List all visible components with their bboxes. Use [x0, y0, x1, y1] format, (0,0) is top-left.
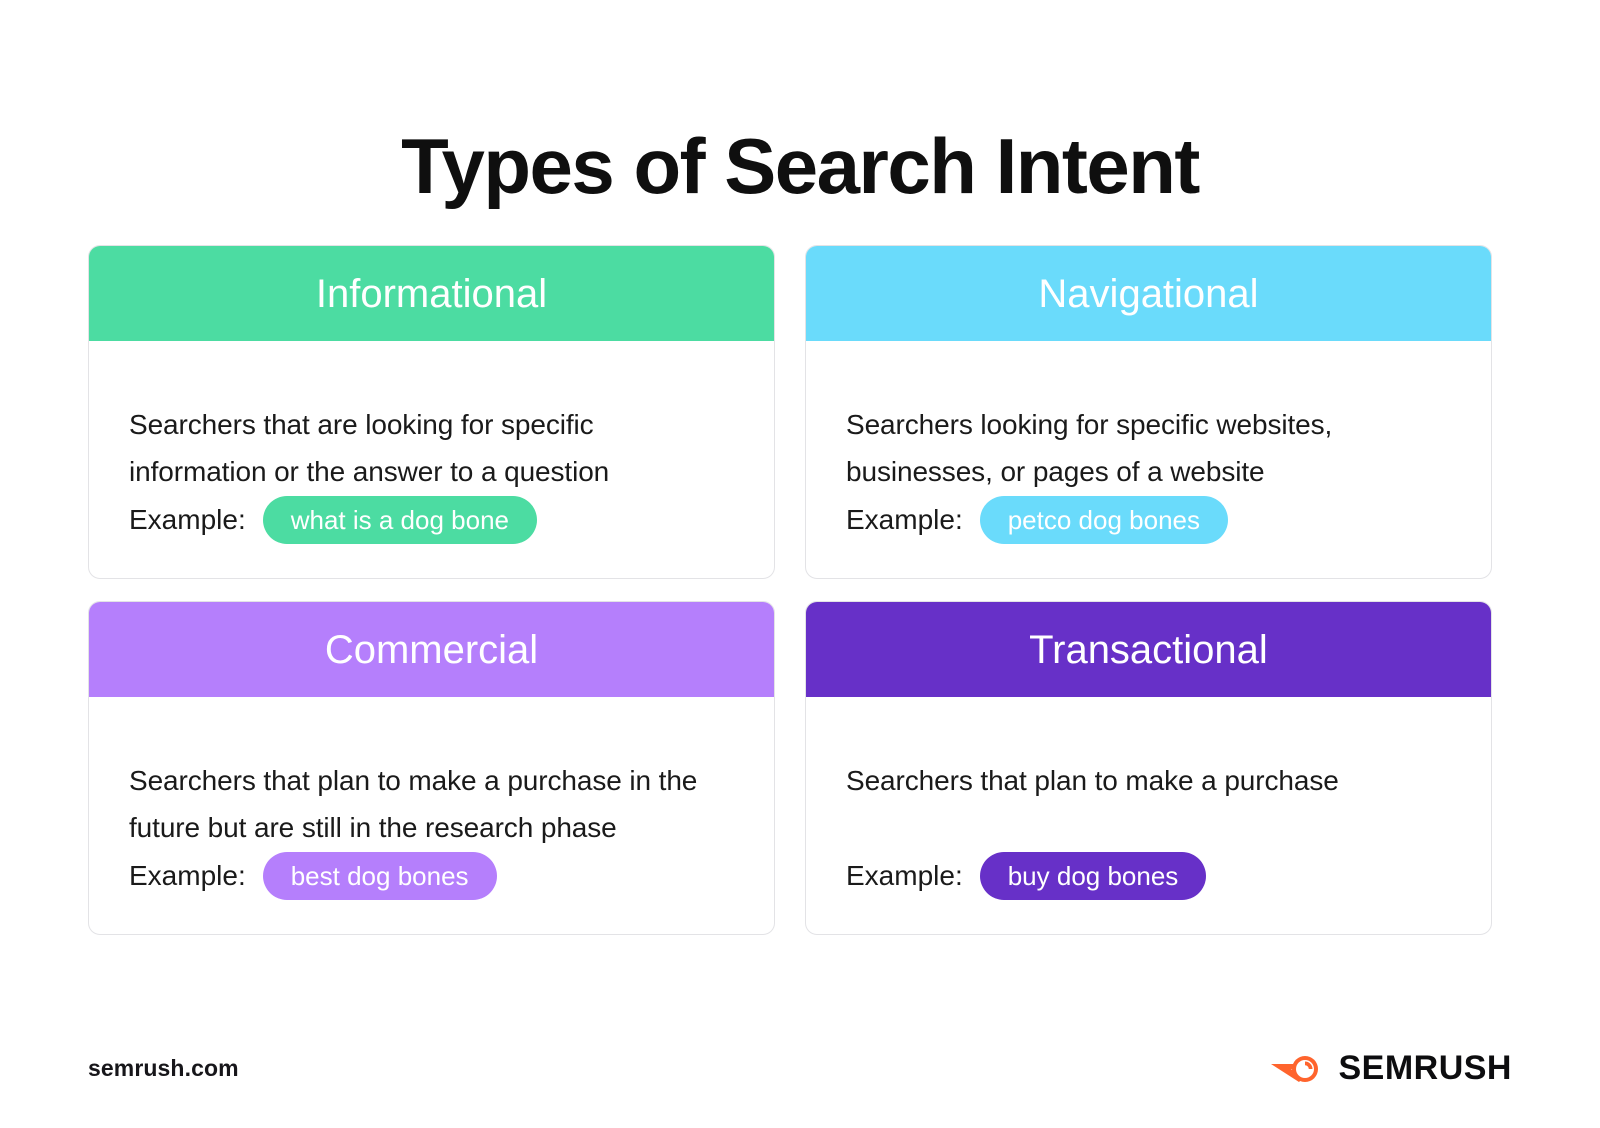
infographic-page: Types of Search Intent Informational Sea…	[0, 0, 1600, 1128]
intent-card-title: Navigational	[1038, 271, 1258, 317]
intent-card-body-informational: Searchers that are looking for specific …	[89, 341, 774, 578]
footer-source-url: semrush.com	[88, 1054, 239, 1082]
page-title: Types of Search Intent	[0, 120, 1600, 212]
intent-card-body-navigational: Searchers looking for specific websites,…	[806, 341, 1491, 578]
intent-cards-grid: Informational Searchers that are looking…	[88, 245, 1492, 935]
example-row: Example: petco dog bones	[846, 496, 1228, 544]
semrush-comet-icon	[1269, 1048, 1325, 1088]
footer: semrush.com SEMRUSH	[88, 1044, 1512, 1092]
intent-card-description: Searchers that are looking for specific …	[129, 401, 729, 495]
intent-card-title: Informational	[316, 271, 547, 317]
intent-card-header-informational: Informational	[89, 246, 774, 341]
intent-card-navigational: Navigational Searchers looking for speci…	[805, 245, 1492, 579]
intent-card-header-commercial: Commercial	[89, 602, 774, 697]
intent-card-header-transactional: Transactional	[806, 602, 1491, 697]
intent-card-title: Transactional	[1029, 627, 1268, 673]
intent-card-description: Searchers looking for specific websites,…	[846, 401, 1446, 495]
example-row: Example: what is a dog bone	[129, 496, 537, 544]
semrush-wordmark: SEMRUSH	[1338, 1049, 1512, 1087]
example-row: Example: buy dog bones	[846, 852, 1206, 900]
intent-card-informational: Informational Searchers that are looking…	[88, 245, 775, 579]
intent-card-body-transactional: Searchers that plan to make a purchase E…	[806, 697, 1491, 934]
example-query-pill[interactable]: best dog bones	[263, 852, 497, 900]
example-label: Example:	[846, 859, 963, 893]
example-label: Example:	[129, 503, 246, 537]
intent-card-title: Commercial	[325, 627, 538, 673]
example-query-pill[interactable]: what is a dog bone	[263, 496, 537, 544]
example-row: Example: best dog bones	[129, 852, 497, 900]
intent-card-header-navigational: Navigational	[806, 246, 1491, 341]
intent-card-description: Searchers that plan to make a purchase	[846, 757, 1446, 804]
intent-card-body-commercial: Searchers that plan to make a purchase i…	[89, 697, 774, 934]
example-label: Example:	[129, 859, 246, 893]
intent-card-transactional: Transactional Searchers that plan to mak…	[805, 601, 1492, 935]
example-query-pill[interactable]: petco dog bones	[980, 496, 1228, 544]
intent-card-description: Searchers that plan to make a purchase i…	[129, 757, 729, 851]
semrush-logo: SEMRUSH	[1269, 1048, 1512, 1088]
intent-card-commercial: Commercial Searchers that plan to make a…	[88, 601, 775, 935]
example-query-pill[interactable]: buy dog bones	[980, 852, 1207, 900]
example-label: Example:	[846, 503, 963, 537]
